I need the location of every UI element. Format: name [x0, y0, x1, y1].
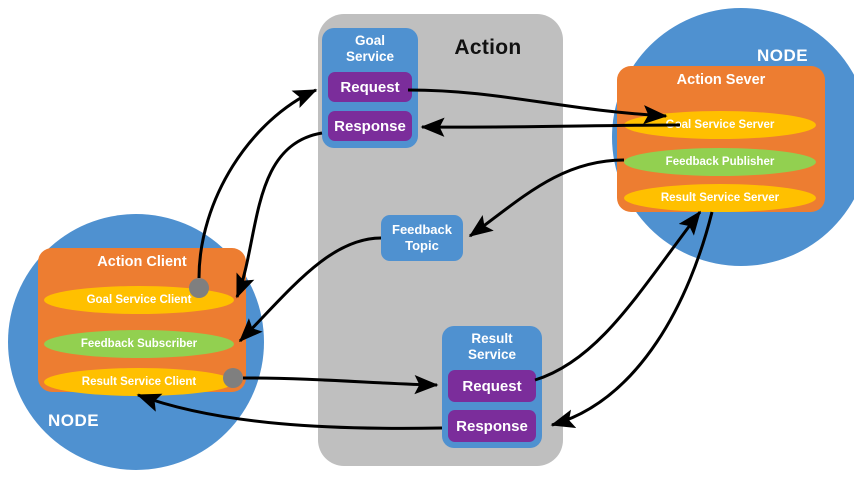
result-service-title-line2: Service [468, 347, 516, 362]
feedback-topic-line1: Feedback [392, 222, 452, 237]
pill-result-service-client[interactable]: Result Service Client [44, 368, 234, 396]
result-service-request[interactable]: Request [448, 370, 536, 402]
connector-dot-result-client [223, 368, 243, 388]
action-server-title: Action Sever [617, 72, 825, 88]
pill-feedback-publisher[interactable]: Feedback Publisher [624, 148, 816, 176]
result-service-response[interactable]: Response [448, 410, 536, 442]
feedback-topic-box[interactable]: Feedback Topic [381, 215, 463, 261]
goal-service-box: Goal Service Request Response [322, 28, 418, 148]
server-node-label: NODE [757, 46, 808, 66]
connector-dot-goal-client [189, 278, 209, 298]
pill-result-service-server[interactable]: Result Service Server [624, 184, 816, 212]
feedback-topic-line2: Topic [405, 238, 439, 253]
action-client-title: Action Client [38, 254, 246, 270]
result-service-title: Result Service [442, 331, 542, 363]
client-node-label: NODE [48, 411, 99, 431]
goal-service-title-line2: Service [346, 49, 394, 64]
result-service-title-line1: Result [471, 331, 512, 346]
goal-service-request[interactable]: Request [328, 72, 412, 102]
pill-goal-service-server[interactable]: Goal Service Server [624, 111, 816, 139]
action-diagram-canvas: Action Action Client Goal Service Client… [0, 0, 854, 480]
goal-service-response[interactable]: Response [328, 111, 412, 141]
arrow-goal-response-to-client [237, 133, 322, 297]
result-service-box: Result Service Request Response [442, 326, 542, 448]
feedback-topic-label: Feedback Topic [392, 222, 452, 254]
goal-service-title: Goal Service [322, 33, 418, 65]
action-container-label: Action [418, 36, 558, 60]
pill-feedback-subscriber[interactable]: Feedback Subscriber [44, 330, 234, 358]
goal-service-title-line1: Goal [355, 33, 385, 48]
